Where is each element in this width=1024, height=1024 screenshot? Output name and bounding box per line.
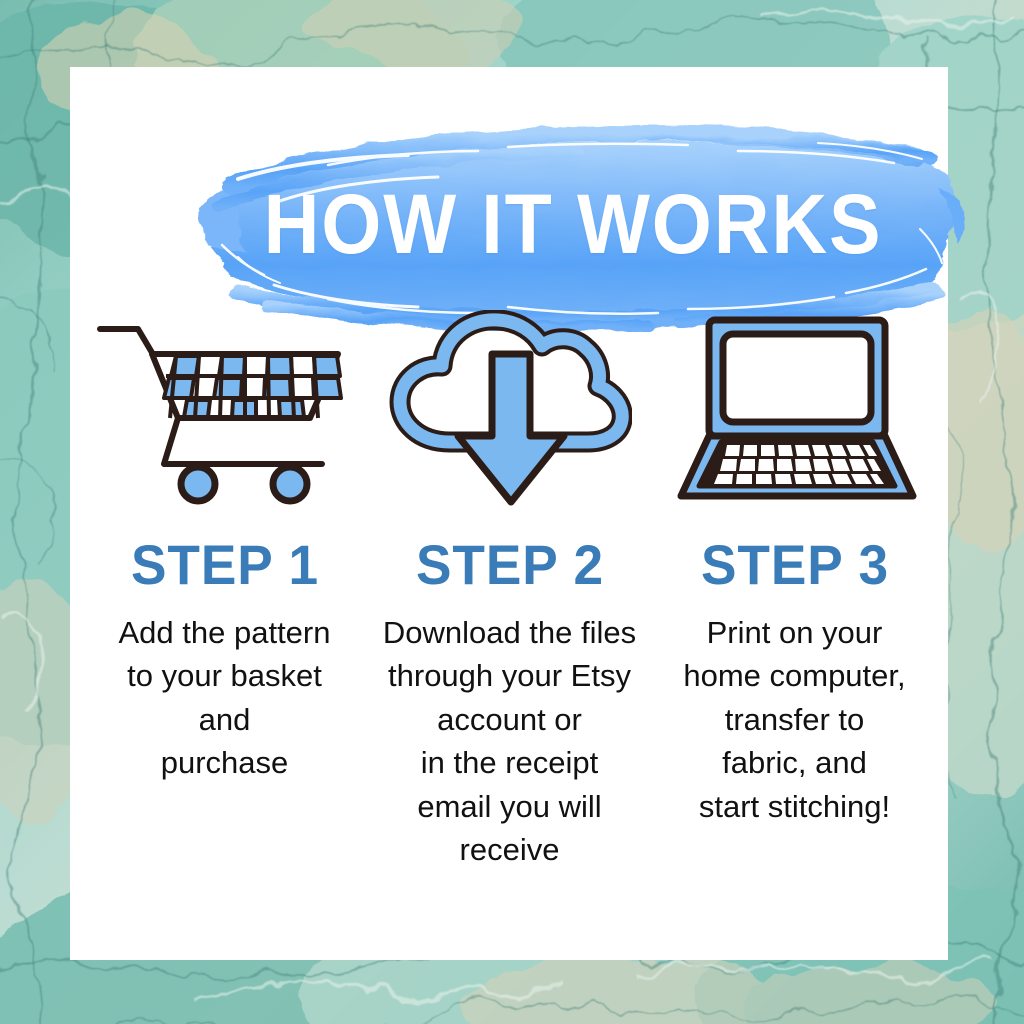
step-column-3: STEP 3 Print on your home computer, tran… — [652, 305, 937, 871]
step-1-icon-box — [94, 305, 356, 510]
step-3-heading: STEP 3 — [700, 532, 888, 597]
step-3-icon-box — [669, 305, 921, 510]
step-1-heading: STEP 1 — [130, 532, 318, 597]
step-2-icon-box — [388, 305, 632, 510]
step-3-body: Print on your home computer, transfer to… — [661, 611, 929, 828]
download-arrow — [458, 354, 564, 502]
content-card: HOW IT WORKS — [70, 67, 948, 960]
step-2-heading: STEP 2 — [415, 532, 603, 597]
cloud-download-icon — [388, 310, 632, 510]
steps-row: STEP 1 Add the pattern to your basket an… — [82, 305, 938, 871]
step-column-2: STEP 2 Download the files through your E… — [367, 305, 652, 871]
shopping-cart-icon — [94, 314, 356, 510]
banner: HOW IT WORKS — [178, 117, 968, 332]
cart-wheel-right — [273, 467, 307, 501]
laptop-icon — [669, 310, 921, 510]
step-column-1: STEP 1 Add the pattern to your basket an… — [82, 305, 367, 871]
page-title: HOW IT WORKS — [210, 117, 937, 332]
step-1-body: Add the pattern to your basket and purch… — [91, 611, 359, 785]
laptop-screen — [723, 334, 871, 422]
cart-wheel-left — [181, 467, 215, 501]
step-2-body: Download the files through your Etsy acc… — [376, 611, 644, 871]
